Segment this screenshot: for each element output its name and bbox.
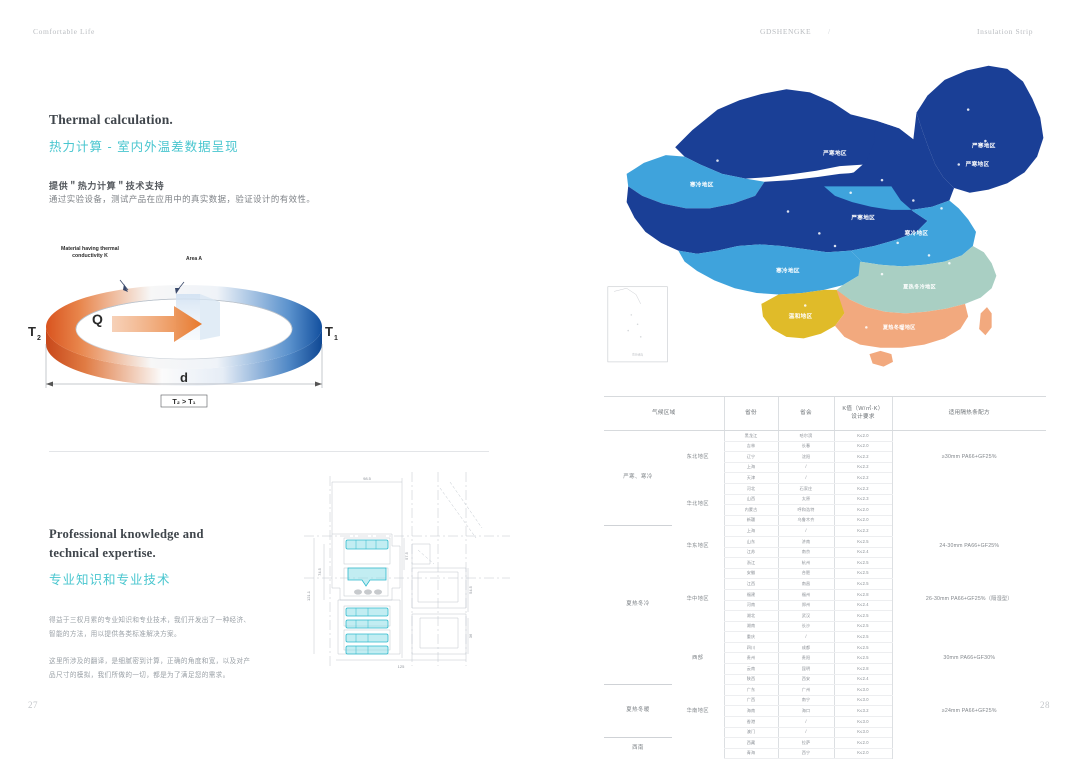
cell-k: K≤2.5 xyxy=(834,568,892,579)
cell-capital: 贵阳 xyxy=(778,653,834,664)
t2-subscript: 2 xyxy=(37,335,41,342)
cell-formula-empty xyxy=(892,483,1046,525)
cad-right-part-5 xyxy=(420,618,458,648)
cell-subregion: 华南地区 xyxy=(672,685,724,738)
prof-title-en-line2: technical expertise. xyxy=(49,544,254,563)
cell-province: 澳门 xyxy=(724,727,778,738)
strip-3 xyxy=(346,608,388,616)
thermal-conduction-figure: Q Material having thermal conductivity K… xyxy=(24,232,344,412)
cell-province: 广西 xyxy=(724,695,778,706)
insulation-spec-table: 气候区域 省份 省会 K值（W/㎡·K）设计要求 适用隔热条配方 严寒、寒冷东北… xyxy=(604,396,1046,759)
d-label: d xyxy=(180,370,188,385)
cell-capital: 福州 xyxy=(778,589,834,600)
cell-capital: 杭州 xyxy=(778,558,834,569)
prof-title-en-line1: Professional knowledge and xyxy=(49,525,254,544)
cell-k: K≤2.5 xyxy=(834,653,892,664)
cell-k: K≤2.8 xyxy=(834,589,892,600)
area-a-slab-side xyxy=(200,294,220,340)
cad-hatch-3 xyxy=(418,550,434,564)
cell-capital: 乌鲁木齐 xyxy=(778,515,834,526)
cell-province: 内蒙古 xyxy=(724,505,778,516)
strip-2-profile xyxy=(348,568,386,586)
cell-k: K≤2.0 xyxy=(834,515,892,526)
prof-body: 得益于三权月累的专业知识和专业技术，我们开发出了一种经济、智能的方法，用以提供各… xyxy=(49,614,254,683)
cell-province: 云南 xyxy=(724,664,778,675)
cell-capital: / xyxy=(778,526,834,537)
cell-k: K≤3.0 xyxy=(834,695,892,706)
cell-capital: 石家庄 xyxy=(778,483,834,494)
q-label: Q xyxy=(92,311,103,327)
strip-6 xyxy=(346,646,388,654)
section-divider xyxy=(49,451,489,452)
table-row: 西南西藏拉萨K≤2.0 xyxy=(604,738,1046,749)
prof-title-cn: 专业知识和专业技术 xyxy=(49,569,254,588)
cell-formula-empty xyxy=(892,738,1046,759)
spec-table-head: 气候区域 省份 省会 K值（W/㎡·K）设计要求 适用隔热条配方 xyxy=(604,397,1046,431)
t1-label: T xyxy=(325,324,333,339)
cell-capital: 南昌 xyxy=(778,579,834,590)
prof-paragraph-2: 这里所涉及的翻译，是细腻密到计算，正确的角度和宽，以及对产品尺寸的模拟，我们所做… xyxy=(49,655,254,683)
cad-dim-top-text: 98.5 xyxy=(363,476,372,481)
cell-k: K≤2.2 xyxy=(834,483,892,494)
thermal-description: 提供＂热力计算＂技术支持 通过实验设备，测试产品在应用中的真实数据，验证设计的有… xyxy=(49,179,469,208)
material-label-line2: conductivity K xyxy=(72,253,108,259)
cell-capital: 广州 xyxy=(778,685,834,696)
cell-k: K≤2.5 xyxy=(834,611,892,622)
cell-k: K≤2.2 xyxy=(834,452,892,463)
cell-k: K≤3.2 xyxy=(834,706,892,717)
cell-province: 上海 xyxy=(724,462,778,473)
cell-capital: 郑州 xyxy=(778,600,834,611)
cell-capital: 合肥 xyxy=(778,568,834,579)
cell-capital: 哈尔滨 xyxy=(778,431,834,442)
map-regions xyxy=(627,66,1044,367)
cell-province: 河北 xyxy=(724,483,778,494)
cell-province: 青海 xyxy=(724,748,778,759)
cell-province: 新疆 xyxy=(724,515,778,526)
cell-province: 山西 xyxy=(724,494,778,505)
cell-province: 山东 xyxy=(724,536,778,547)
cell-k: K≤2.5 xyxy=(834,536,892,547)
cell-climate-zone: 夏热冬冷 xyxy=(604,526,672,685)
cad-right-part-1 xyxy=(412,544,430,564)
cell-k: K≤2.0 xyxy=(834,431,892,442)
cell-capital: / xyxy=(778,473,834,484)
cell-k: K≤2.0 xyxy=(834,505,892,516)
cell-province: 黑龙江 xyxy=(724,431,778,442)
map-inset-box: 南海诸岛 xyxy=(608,287,668,362)
cell-province: 四川 xyxy=(724,642,778,653)
running-head-left: Comfortable Life xyxy=(33,27,95,36)
cad-dim-bottom-text: 125 xyxy=(398,664,405,669)
cell-capital: 长春 xyxy=(778,441,834,452)
cell-k: K≤2.2 xyxy=(834,526,892,537)
china-climate-zone-map: 严寒地区 严寒地区 严寒地区 严寒地区 寒冷地区 寒冷地区 寒冷地区 夏热冬冷地… xyxy=(600,34,1070,389)
header-formula: 适用隔热条配方 xyxy=(892,397,1046,431)
strip-4 xyxy=(346,620,388,628)
cell-k: K≤2.5 xyxy=(834,632,892,643)
cad-hatch-1 xyxy=(440,488,476,538)
inset-caption: 南海诸岛 xyxy=(632,353,643,357)
cell-k: K≤2.4 xyxy=(834,600,892,611)
thermal-calculation-block: Thermal calculation. 热力计算 - 室内外温差数据呈现 提供… xyxy=(49,110,469,207)
cell-subregion: 东北地区 xyxy=(672,431,724,484)
cell-province: 上海 xyxy=(724,526,778,537)
cell-province: 湖南 xyxy=(724,621,778,632)
cell-k: K≤2.2 xyxy=(834,473,892,484)
cell-climate-zone: 夏热冬暖 xyxy=(604,685,672,738)
cell-province: 重庆 xyxy=(724,632,778,643)
cad-gaskets xyxy=(354,589,382,594)
strip-1 xyxy=(346,540,388,549)
cell-k: K≤2.5 xyxy=(834,579,892,590)
cell-capital: / xyxy=(778,717,834,728)
material-label-line1: Material having thermal xyxy=(61,246,120,252)
cell-province: 河南 xyxy=(724,600,778,611)
cad-dim-left-inner-text: 74.5 xyxy=(317,567,322,576)
area-label: Area A xyxy=(186,256,202,262)
dim-arrow-left xyxy=(46,382,53,387)
cell-climate-zone: 严寒、寒冷 xyxy=(604,431,672,526)
spec-header-row: 气候区域 省份 省会 K值（W/㎡·K）设计要求 适用隔热条配方 xyxy=(604,397,1046,431)
inset-coastline xyxy=(614,288,641,304)
cell-formula: ≥30mm PA66+GF25% xyxy=(892,431,1046,484)
header-k-value: K值（W/㎡·K）设计要求 xyxy=(834,397,892,431)
cell-capital: 昆明 xyxy=(778,664,834,675)
condition-label: T₂ > T₁ xyxy=(172,397,195,406)
cell-capital: / xyxy=(778,727,834,738)
cell-k: K≤2.0 xyxy=(834,738,892,749)
cell-capital: 太原 xyxy=(778,494,834,505)
cell-capital: 长沙 xyxy=(778,621,834,632)
cell-formula: 30mm PA66+GF30% xyxy=(892,632,1046,685)
cell-k: K≤2.5 xyxy=(834,621,892,632)
cell-k: K≤2.0 xyxy=(834,748,892,759)
dim-arrow-right xyxy=(315,382,322,387)
magazine-spread: Comfortable Life Thermal calculation. 热力… xyxy=(0,0,1080,732)
region-taiwan xyxy=(979,307,992,335)
cell-subregion: 华中地区 xyxy=(672,568,724,632)
cell-province: 安徽 xyxy=(724,568,778,579)
cell-province: 湖北 xyxy=(724,611,778,622)
cell-subregion xyxy=(672,738,724,759)
cell-formula: ≥24mm PA66+GF25% xyxy=(892,685,1046,738)
cell-province: 江苏 xyxy=(724,547,778,558)
cell-province: 福建 xyxy=(724,589,778,600)
cell-k: K≤2.5 xyxy=(834,642,892,653)
cell-subregion: 西部 xyxy=(672,632,724,685)
spec-table: 气候区域 省份 省会 K值（W/㎡·K）设计要求 适用隔热条配方 严寒、寒冷东北… xyxy=(604,396,1046,759)
thermal-lead-cn: 提供＂热力计算＂技术支持 xyxy=(49,179,469,192)
cell-capital: 海口 xyxy=(778,706,834,717)
cell-province: 浙江 xyxy=(724,558,778,569)
cell-province: 吉林 xyxy=(724,441,778,452)
cell-province: 江西 xyxy=(724,579,778,590)
table-row: 严寒、寒冷东北地区黑龙江哈尔滨K≤2.0≥30mm PA66+GF25% xyxy=(604,431,1046,442)
cell-capital: / xyxy=(778,632,834,643)
cell-capital: 南宁 xyxy=(778,695,834,706)
thermal-title-en: Thermal calculation. xyxy=(49,110,469,130)
t2-label: T xyxy=(28,324,36,339)
cell-k: K≤2.0 xyxy=(834,441,892,452)
cell-formula: 26-30mm PA66+GF25%（隔湿型） xyxy=(892,568,1046,632)
thermal-title-cn: 热力计算 - 室内外温差数据呈现 xyxy=(49,136,469,155)
professional-knowledge-block: Professional knowledge and technical exp… xyxy=(49,525,254,683)
cell-province: 辽宁 xyxy=(724,452,778,463)
t1-subscript: 1 xyxy=(334,335,338,342)
cad-dim-right-upper-text: 57.5 xyxy=(404,551,409,560)
header-capital: 省会 xyxy=(778,397,834,431)
cad-dim-right-mid-text: 54.5 xyxy=(468,585,473,594)
cell-capital: / xyxy=(778,462,834,473)
cell-formula: 24-30mm PA66+GF25% xyxy=(892,526,1046,568)
cell-k: K≤2.4 xyxy=(834,547,892,558)
left-page: Comfortable Life Thermal calculation. 热力… xyxy=(0,0,540,732)
cell-capital: 呼和浩特 xyxy=(778,505,834,516)
strip-5 xyxy=(346,634,388,642)
region-hainan xyxy=(869,351,893,367)
cell-k: K≤2.8 xyxy=(834,664,892,675)
cell-capital: 西宁 xyxy=(778,748,834,759)
spec-table-body: 严寒、寒冷东北地区黑龙江哈尔滨K≤2.0≥30mm PA66+GF25%吉林长春… xyxy=(604,431,1046,759)
cell-province: 海南 xyxy=(724,706,778,717)
header-climate-zone: 气候区域 xyxy=(604,397,724,431)
table-row: 夏热冬暖华南地区广东广州K≤3.0≥24mm PA66+GF25% xyxy=(604,685,1046,696)
cell-k: K≤3.0 xyxy=(834,717,892,728)
cell-k: K≤2.2 xyxy=(834,462,892,473)
cell-capital: 济南 xyxy=(778,536,834,547)
prof-paragraph-1: 得益于三权月累的专业知识和专业技术，我们开发出了一种经济、智能的方法，用以提供各… xyxy=(49,614,254,642)
page-number-left: 27 xyxy=(28,700,38,710)
window-profile-cad-drawing: 98.5 57.5 54.5 36 121.1 74.5 125 xyxy=(300,468,515,673)
thermal-body-cn: 通过实验设备，测试产品在应用中的真实数据，验证设计的有效性。 xyxy=(49,192,469,208)
cell-capital: 成都 xyxy=(778,642,834,653)
cad-dim-right-low-text: 36 xyxy=(468,633,473,638)
cell-k: K≤2.3 xyxy=(834,494,892,505)
cell-capital: 西安 xyxy=(778,674,834,685)
cell-capital: 沈阳 xyxy=(778,452,834,463)
cell-province: 香港 xyxy=(724,717,778,728)
cell-capital: 武汉 xyxy=(778,611,834,622)
cad-dim-left-outer-text: 121.1 xyxy=(306,590,311,601)
header-province: 省份 xyxy=(724,397,778,431)
cell-subregion: 华北地区 xyxy=(672,483,724,525)
cell-k: K≤3.0 xyxy=(834,685,892,696)
cell-subregion: 华东地区 xyxy=(672,526,724,568)
cell-k: K≤2.5 xyxy=(834,558,892,569)
cell-capital: 拉萨 xyxy=(778,738,834,749)
cell-k: K≤3.0 xyxy=(834,727,892,738)
table-row: 夏热冬冷华东地区上海/K≤2.224-30mm PA66+GF25% xyxy=(604,526,1046,537)
cell-k: K≤2.4 xyxy=(834,674,892,685)
cell-province: 陕西 xyxy=(724,674,778,685)
cell-province: 广东 xyxy=(724,685,778,696)
cell-climate-zone: 西南 xyxy=(604,738,672,759)
cell-province: 天津 xyxy=(724,473,778,484)
cell-capital: 南京 xyxy=(778,547,834,558)
insulation-strips xyxy=(346,540,388,654)
cell-province: 贵州 xyxy=(724,653,778,664)
cell-province: 西藏 xyxy=(724,738,778,749)
inset-islands xyxy=(627,314,641,338)
